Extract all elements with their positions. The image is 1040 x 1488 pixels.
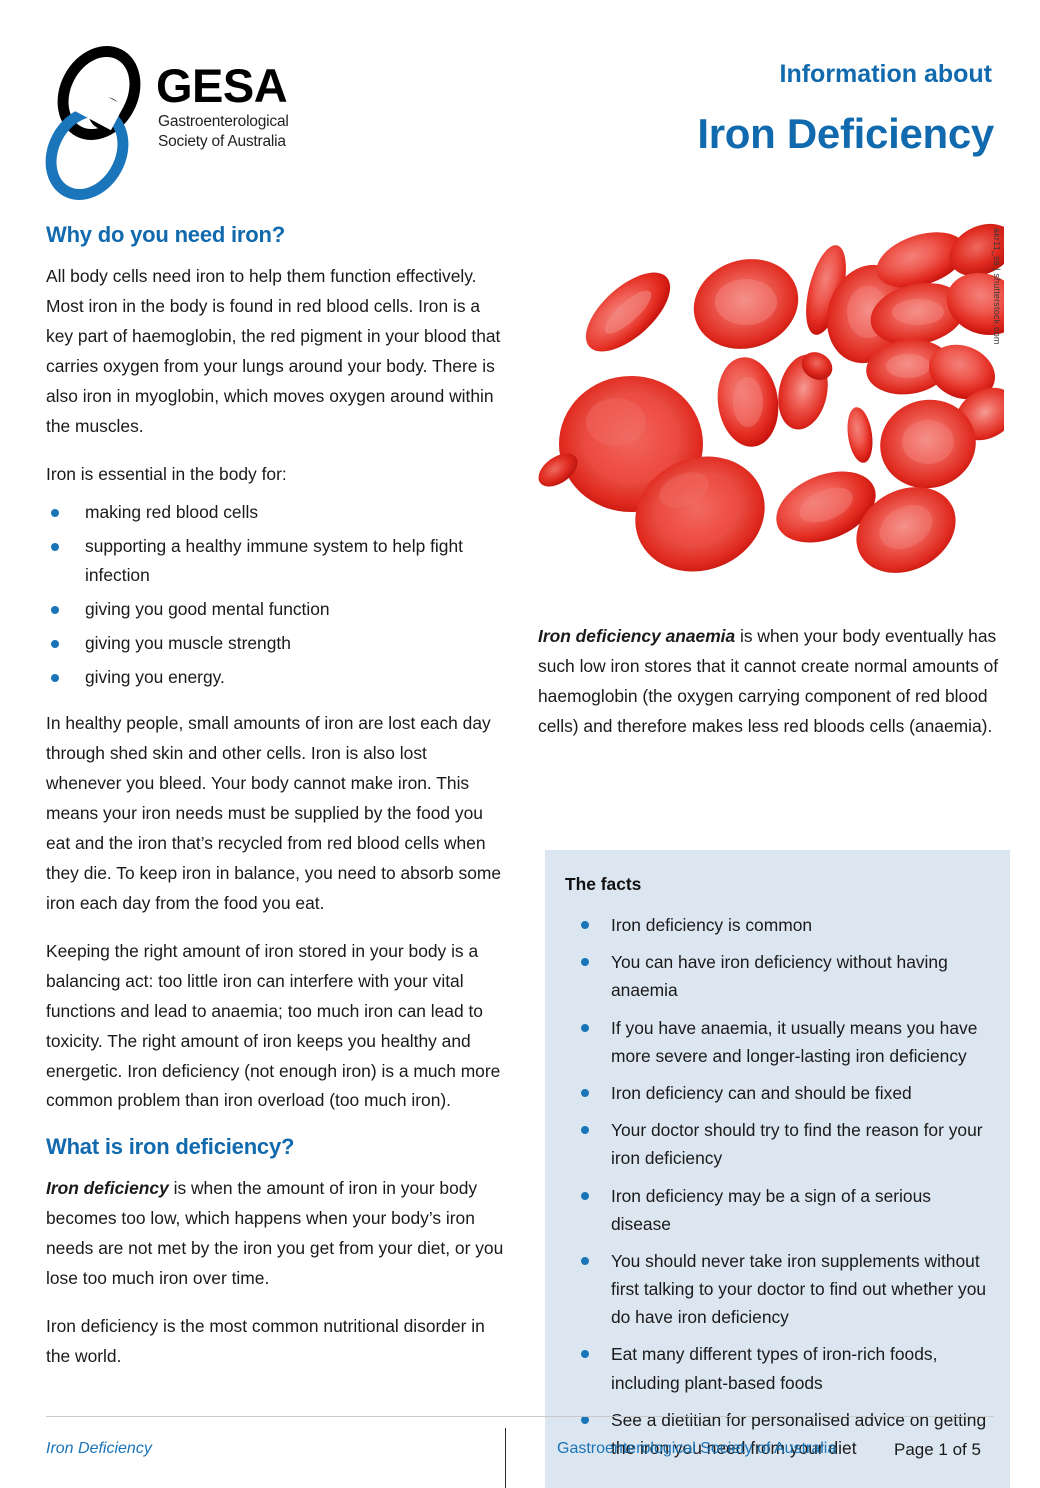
red-blood-cells-illustration-icon (538, 222, 1004, 622)
footer-page-number: Page 1 of 5 (894, 1440, 981, 1460)
bullet-dot-icon (51, 640, 59, 648)
list-item: If you have anaemia, it usually means yo… (563, 1014, 990, 1070)
paragraph-most-common-disorder: Iron deficiency is the most common nutri… (46, 1312, 506, 1372)
bullet-dot-icon (51, 674, 59, 682)
list-item-label: giving you good mental function (85, 599, 330, 619)
paragraph-definition: Iron deficiency is when the amount of ir… (46, 1174, 506, 1294)
footer-organisation: Gastroenterological Society of Australia (557, 1440, 836, 1458)
footer-divider (505, 1428, 506, 1488)
left-column: Why do you need iron? All body cells nee… (46, 222, 506, 1390)
list-item: You should never take iron supplements w… (563, 1247, 990, 1332)
image-credit: akr11_ss | shutterstock.com (992, 228, 1002, 345)
list-item-label: You should never take iron supplements w… (611, 1251, 986, 1327)
bullet-dot-icon (581, 1257, 589, 1265)
list-item-label: Iron deficiency is common (611, 915, 812, 935)
list-item-label: Iron deficiency can and should be fixed (611, 1083, 912, 1103)
logo-subtitle: Gastroenterological Society of Australia (158, 112, 289, 152)
document-page: GESA Gastroenterological Society of Aust… (0, 0, 1040, 1488)
list-item: Iron deficiency is common (563, 911, 990, 939)
bullet-dot-icon (581, 1350, 589, 1358)
right-column: akr11_ss | shutterstock.com Iron deficie… (538, 222, 1004, 760)
the-facts-panel: The facts Iron deficiency is common You … (545, 850, 1010, 1488)
bullet-dot-icon (581, 921, 589, 929)
gesa-logo: GESA Gastroenterological Society of Aust… (48, 42, 348, 192)
bullet-dot-icon (581, 1089, 589, 1097)
bullet-dot-icon (581, 958, 589, 966)
logo-wordmark: GESA (156, 62, 287, 109)
bullet-dot-icon (581, 1192, 589, 1200)
logo-subtitle-line1: Gastroenterological (158, 112, 289, 132)
paragraph-iron-loss: In healthy people, small amounts of iron… (46, 709, 506, 919)
footer-rule (46, 1416, 994, 1417)
list-item-label: Eat many different types of iron-rich fo… (611, 1344, 937, 1392)
list-item: Iron deficiency can and should be fixed (563, 1079, 990, 1107)
logo-subtitle-line2: Society of Australia (158, 132, 289, 152)
list-item-label: making red blood cells (85, 502, 258, 522)
list-item: Eat many different types of iron-rich fo… (563, 1340, 990, 1396)
paragraph-iron-balance: Keeping the right amount of iron stored … (46, 937, 506, 1117)
paragraph-why-iron: All body cells need iron to help them fu… (46, 262, 506, 442)
page-title: Iron Deficiency (697, 110, 994, 158)
page-header: GESA Gastroenterological Society of Aust… (0, 0, 1040, 205)
list-item: You can have iron deficiency without hav… (563, 948, 990, 1004)
bullet-dot-icon (51, 509, 59, 517)
list-item-label: giving you muscle strength (85, 633, 291, 653)
paragraph-anaemia-definition: Iron deficiency anaemia is when your bod… (538, 622, 1004, 742)
list-item-label: If you have anaemia, it usually means yo… (611, 1018, 977, 1066)
section-heading-why-iron: Why do you need iron? (46, 222, 506, 248)
red-blood-cells-image: akr11_ss | shutterstock.com (538, 222, 1004, 622)
list-intro: Iron is essential in the body for: (46, 460, 506, 490)
gesa-logo-mark-icon (48, 42, 156, 190)
list-item-label: Your doctor should try to find the reaso… (611, 1120, 983, 1168)
list-item-label: Iron deficiency may be a sign of a serio… (611, 1186, 931, 1234)
section-heading-what-is-iron-deficiency: What is iron deficiency? (46, 1134, 506, 1160)
header-kicker: Information about (780, 60, 992, 89)
facts-list: Iron deficiency is common You can have i… (563, 911, 990, 1462)
list-item: giving you good mental function (46, 595, 506, 625)
list-item: giving you energy. (46, 663, 506, 693)
footer-document-name: Iron Deficiency (46, 1440, 152, 1458)
bullet-dot-icon (581, 1126, 589, 1134)
bullet-dot-icon (581, 1024, 589, 1032)
definition-lead-term: Iron deficiency (46, 1178, 169, 1198)
list-item: giving you muscle strength (46, 629, 506, 659)
bullet-dot-icon (51, 543, 59, 551)
facts-panel-title: The facts (565, 874, 990, 895)
list-item: Your doctor should try to find the reaso… (563, 1116, 990, 1172)
list-item: making red blood cells (46, 498, 506, 528)
bullet-dot-icon (51, 606, 59, 614)
essential-for-list: making red blood cells supporting a heal… (46, 498, 506, 694)
anaemia-lead-term: Iron deficiency anaemia (538, 626, 735, 646)
list-item-label: supporting a healthy immune system to he… (85, 536, 463, 586)
page-footer: Iron Deficiency Gastroenterological Soci… (0, 1416, 1040, 1488)
list-item: Iron deficiency may be a sign of a serio… (563, 1182, 990, 1238)
list-item: supporting a healthy immune system to he… (46, 532, 506, 592)
list-item-label: giving you energy. (85, 667, 225, 687)
list-item-label: You can have iron deficiency without hav… (611, 952, 948, 1000)
